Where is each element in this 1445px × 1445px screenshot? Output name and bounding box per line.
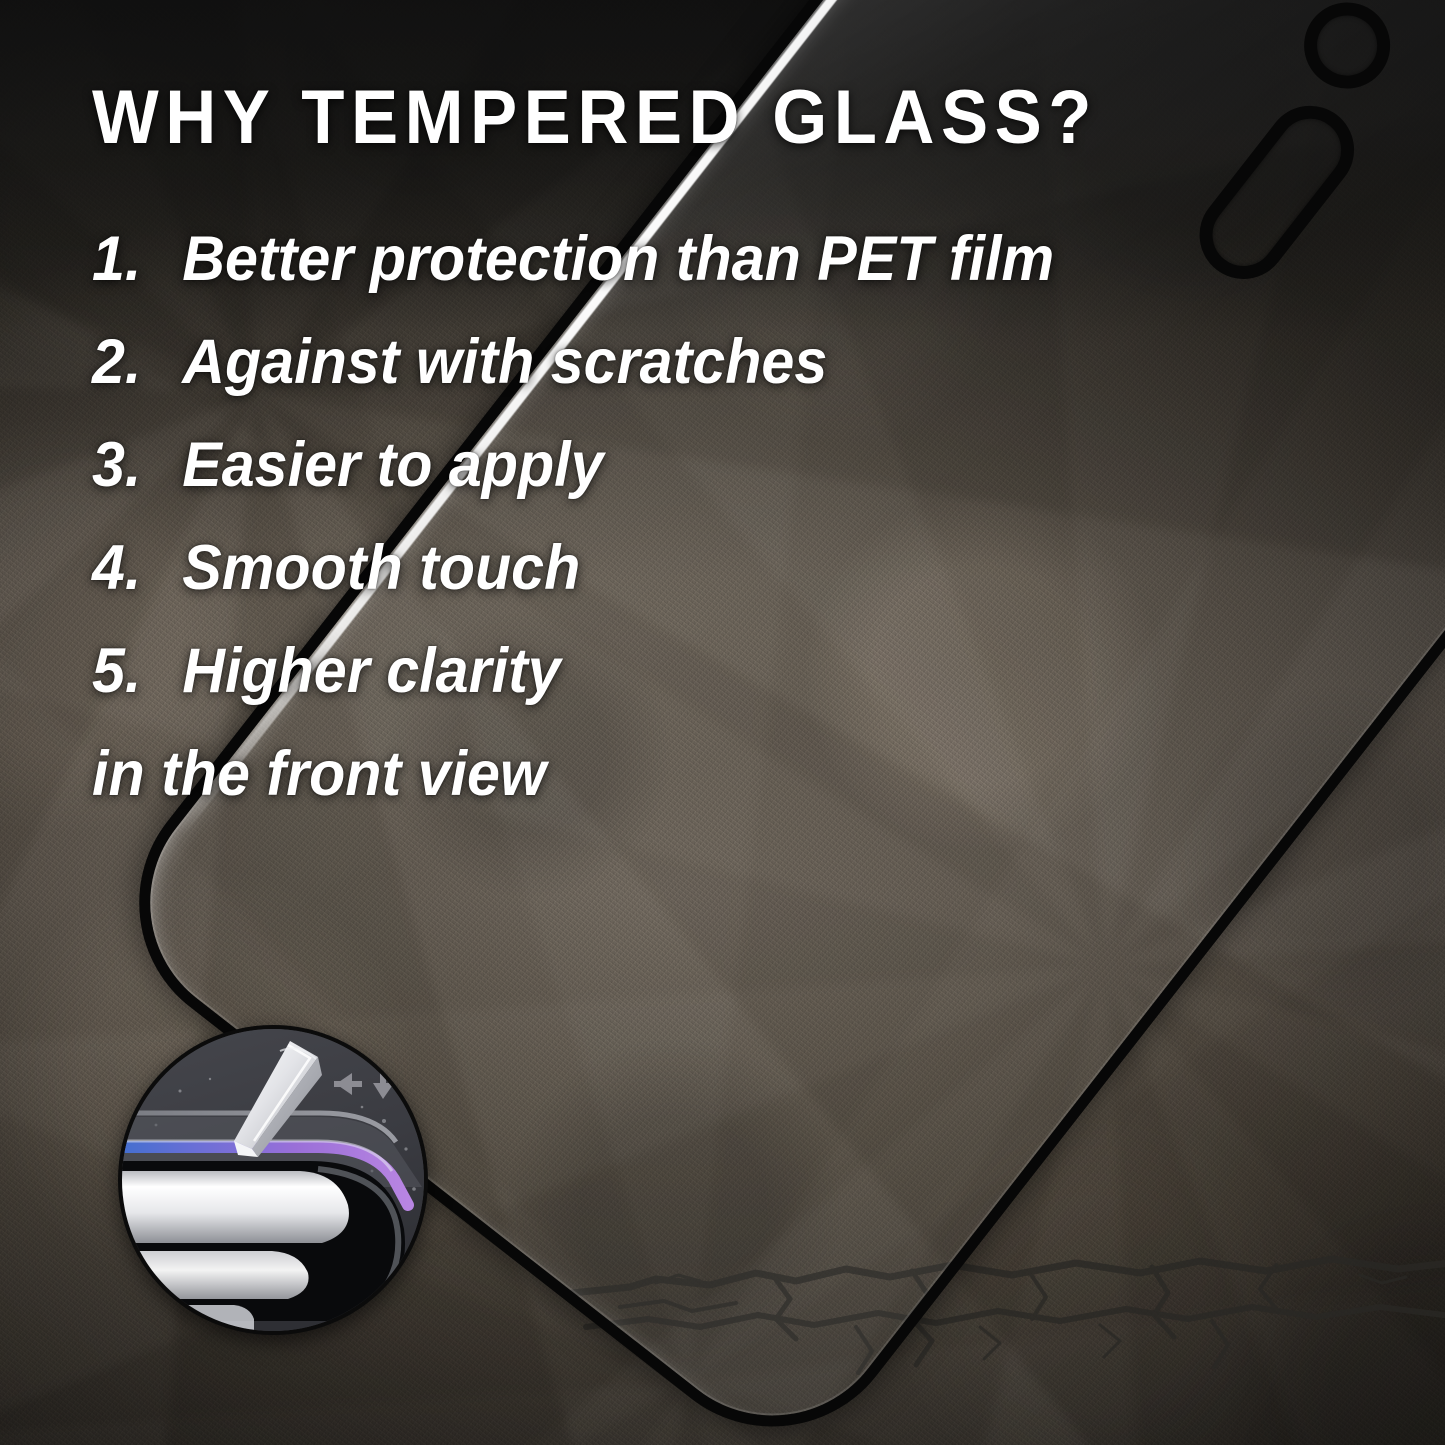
list-item-number: 2.: [92, 331, 182, 394]
list-item: 3. Easier to apply: [92, 434, 1154, 497]
benefits-list: 1. Better protection than PET film 2. Ag…: [92, 228, 1222, 806]
list-item: 4. Smooth touch: [92, 537, 1154, 600]
badge-chrome-band-top: [122, 1171, 349, 1243]
list-item-label: Easier to apply: [182, 434, 603, 497]
front-camera-cutout: [1287, 0, 1408, 106]
list-item-number: 4.: [92, 537, 182, 600]
list-item-label: Better protection than PET film: [182, 228, 1054, 291]
badge-illustration: [122, 1029, 428, 1335]
list-item: 2. Against with scratches: [92, 331, 1154, 394]
poster-canvas: WHY TEMPERED GLASS? 1. Better protection…: [0, 0, 1445, 1445]
list-item-label: Against with scratches: [182, 331, 827, 394]
list-item: 1. Better protection than PET film: [92, 228, 1154, 291]
page-title: WHY TEMPERED GLASS?: [92, 80, 1098, 156]
list-item-label: Higher clarity: [182, 640, 560, 703]
list-item-number: 5.: [92, 640, 182, 703]
list-continuation-line: in the front view: [92, 743, 1154, 806]
list-item-label: Smooth touch: [182, 537, 580, 600]
list-item: 5. Higher clarity: [92, 640, 1154, 703]
list-item-number: 1.: [92, 228, 182, 291]
scratch-resistance-badge: [118, 1025, 428, 1335]
list-item-number: 3.: [92, 434, 182, 497]
